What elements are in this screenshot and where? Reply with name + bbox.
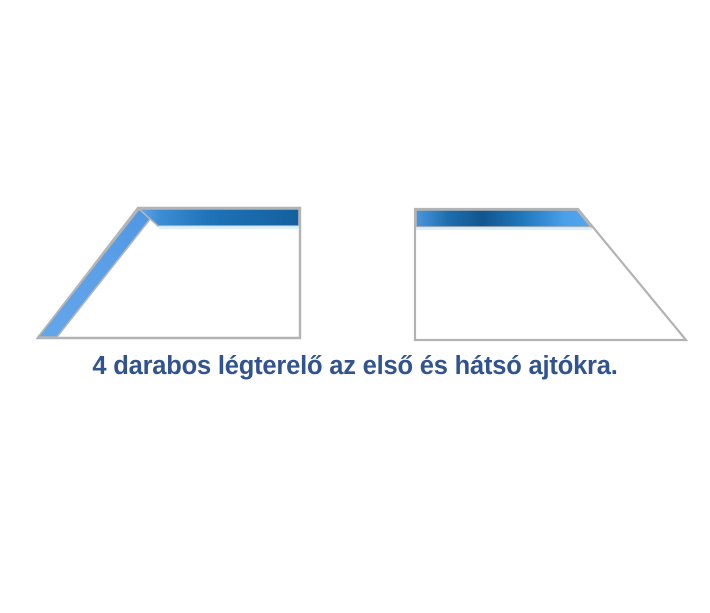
caption-text: 4 darabos légterelő az első és hátsó ajt…: [0, 352, 710, 381]
rear-deflector-highlight: [416, 227, 593, 230]
front-deflector-highlight: [159, 226, 299, 229]
front-deflector-top-band: [139, 209, 299, 226]
wind-deflector-illustration: [0, 0, 710, 355]
rear-deflector-top-band: [416, 210, 591, 227]
rear-door-deflector: [415, 209, 686, 340]
illustration-canvas: 4 darabos légterelő az első és hátsó ajt…: [0, 0, 710, 613]
front-door-deflector: [38, 208, 300, 338]
